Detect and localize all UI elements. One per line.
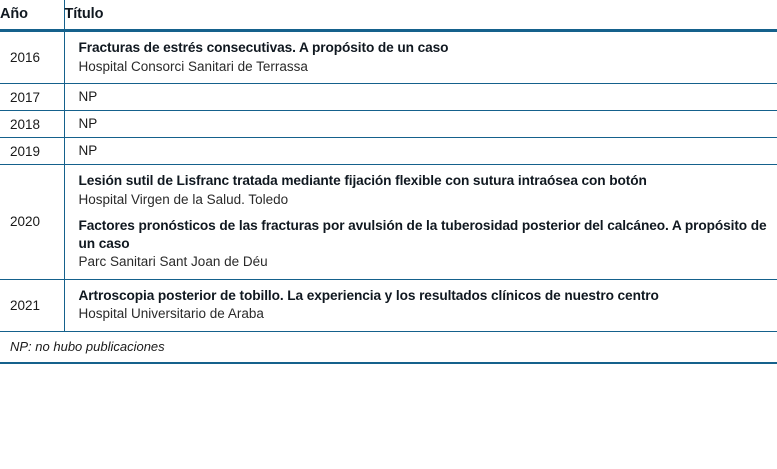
no-publications-label: NP <box>79 89 768 104</box>
cell-title: Artroscopia posterior de tobillo. La exp… <box>64 279 777 331</box>
publication-entry: Artroscopia posterior de tobillo. La exp… <box>79 287 768 323</box>
publication-entry: Lesión sutil de Lisfranc tratada mediant… <box>79 172 768 208</box>
cell-title: NP <box>64 138 777 165</box>
table-header-row: Año Título <box>0 0 777 31</box>
cell-title: Lesión sutil de Lisfranc tratada mediant… <box>64 165 777 280</box>
publication-title: Factores pronósticos de las fracturas po… <box>79 217 768 252</box>
publication-affiliation: Hospital Virgen de la Salud. Toledo <box>79 191 768 209</box>
table-row: 2018 NP <box>0 111 777 138</box>
publication-affiliation: Hospital Universitario de Araba <box>79 305 768 323</box>
cell-year: 2018 <box>0 111 64 138</box>
publication-entry: Factores pronósticos de las fracturas po… <box>79 217 768 271</box>
publication-title: Fracturas de estrés consecutivas. A prop… <box>79 39 768 57</box>
publications-table: Año Título 2016 Fracturas de estrés cons… <box>0 0 777 364</box>
no-publications-label: NP <box>79 116 768 131</box>
cell-year: 2020 <box>0 165 64 280</box>
publications-table-container: Año Título 2016 Fracturas de estrés cons… <box>0 0 777 469</box>
cell-title: NP <box>64 84 777 111</box>
cell-year: 2021 <box>0 279 64 331</box>
table-footer: NP: no hubo publicaciones <box>0 331 777 363</box>
table-body: 2016 Fracturas de estrés consecutivas. A… <box>0 31 777 332</box>
table-row: 2020 Lesión sutil de Lisfranc tratada me… <box>0 165 777 280</box>
publication-title: Lesión sutil de Lisfranc tratada mediant… <box>79 172 768 190</box>
column-header-year: Año <box>0 0 64 31</box>
publication-affiliation: Hospital Consorci Sanitari de Terrassa <box>79 58 768 76</box>
publication-entry: Fracturas de estrés consecutivas. A prop… <box>79 39 768 75</box>
publication-title: Artroscopia posterior de tobillo. La exp… <box>79 287 768 305</box>
table-row: 2019 NP <box>0 138 777 165</box>
publication-affiliation: Parc Sanitari Sant Joan de Déu <box>79 253 768 271</box>
cell-year: 2016 <box>0 31 64 84</box>
cell-year: 2017 <box>0 84 64 111</box>
cell-title: Fracturas de estrés consecutivas. A prop… <box>64 31 777 84</box>
table-footnote-row: NP: no hubo publicaciones <box>0 331 777 363</box>
cell-title: NP <box>64 111 777 138</box>
no-publications-label: NP <box>79 143 768 158</box>
table-row: 2021 Artroscopia posterior de tobillo. L… <box>0 279 777 331</box>
table-row: 2017 NP <box>0 84 777 111</box>
table-header: Año Título <box>0 0 777 31</box>
cell-year: 2019 <box>0 138 64 165</box>
table-footnote: NP: no hubo publicaciones <box>0 331 777 363</box>
table-row: 2016 Fracturas de estrés consecutivas. A… <box>0 31 777 84</box>
column-header-title: Título <box>64 0 777 31</box>
